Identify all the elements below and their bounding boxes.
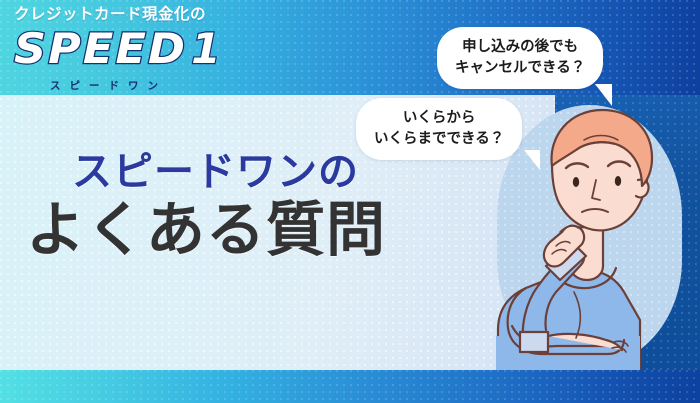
speech-bubble-cancel: 申し込みの後でも キャンセルできる？ <box>437 27 603 89</box>
speech-bubble-cancel-tail <box>586 84 612 106</box>
speech-bubble-amount-tail <box>516 150 540 170</box>
page-title-line-2: よくある質問 <box>26 195 386 265</box>
logo-speed-text: SPEED <box>14 25 187 73</box>
page-title-line-1: スピードワンの <box>72 148 386 197</box>
bubble-amount-line-1: いくらから <box>374 108 504 129</box>
logo-wordmark: SPEED1 <box>14 25 221 73</box>
bubble-cancel-line-2: キャンセルできる？ <box>455 58 585 79</box>
footer-dot-texture <box>0 370 700 403</box>
faq-banner: クレジットカード現金化の SPEED1 スピードワン 申し込みの後でも キャンセ… <box>0 0 700 403</box>
logo-number-text: 1 <box>191 25 220 73</box>
bubble-cancel-line-1: 申し込みの後でも <box>455 37 585 58</box>
page-title: スピードワンの よくある質問 <box>72 148 386 264</box>
logo-kicker-text: クレジットカード現金化の <box>14 6 221 24</box>
logo-ruby-text: スピードワン <box>50 78 167 93</box>
site-logo[interactable]: クレジットカード現金化の SPEED1 スピードワン <box>14 6 221 73</box>
bubble-amount-line-2: いくらまでできる？ <box>374 129 504 150</box>
